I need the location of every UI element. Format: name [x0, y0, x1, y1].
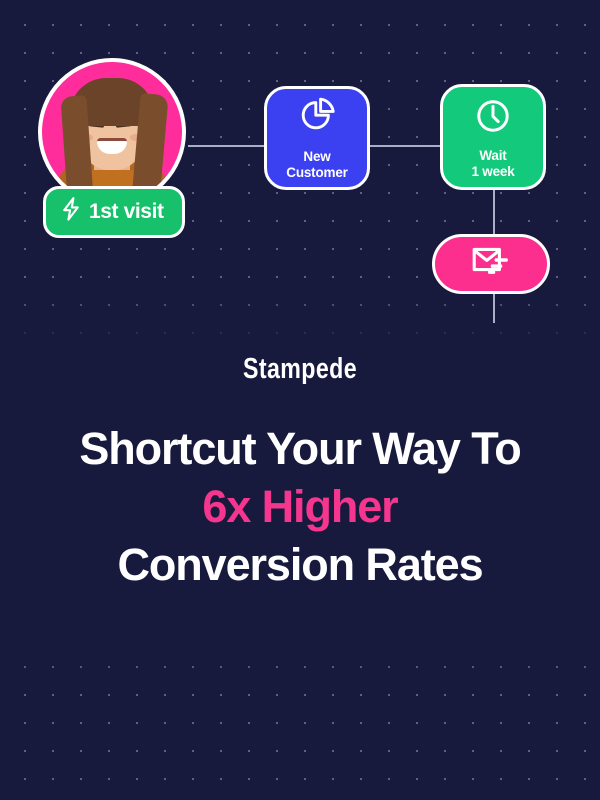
label-line-1: Wait	[479, 148, 506, 163]
clock-icon	[472, 95, 514, 142]
brand-logo: Stampede	[60, 353, 540, 386]
flow-node-new-customer-label: New Customer	[286, 149, 347, 181]
lightning-bolt-icon	[61, 197, 81, 226]
connector-email-to-next	[493, 292, 495, 323]
automation-flow-diagram: 1st visit New Customer	[0, 0, 600, 340]
first-visit-badge[interactable]: 1st visit	[43, 186, 185, 238]
dot-grid-bottom	[0, 644, 600, 800]
label-line-1: New	[303, 149, 330, 164]
avatar-photo	[42, 62, 182, 202]
flow-node-wait-label: Wait 1 week	[471, 148, 514, 180]
connector-avatar-to-new-customer	[188, 145, 264, 147]
headline-line-2: 6x Higher	[0, 478, 600, 536]
flow-node-send-email[interactable]	[432, 234, 550, 294]
connector-new-customer-to-wait	[369, 145, 441, 147]
label-line-2: Customer	[286, 165, 347, 180]
first-visit-badge-label: 1st visit	[89, 200, 164, 224]
flow-node-wait[interactable]: Wait 1 week	[440, 84, 546, 190]
envelope-icon	[471, 245, 511, 284]
label-line-2: 1 week	[471, 164, 514, 179]
headline-line-3: Conversion Rates	[0, 536, 600, 594]
avatar-ring	[38, 58, 186, 206]
headline-line-1: Shortcut Your Way To	[0, 420, 600, 478]
flow-node-new-customer[interactable]: New Customer	[264, 86, 370, 190]
headline: Shortcut Your Way To 6x Higher Conversio…	[0, 420, 600, 594]
dot-grid-fade-bottom	[0, 612, 600, 672]
pie-chart-icon	[296, 95, 338, 142]
poster-canvas: 1st visit New Customer	[0, 0, 600, 800]
connector-wait-to-email	[493, 188, 495, 236]
customer-avatar[interactable]	[38, 58, 186, 206]
